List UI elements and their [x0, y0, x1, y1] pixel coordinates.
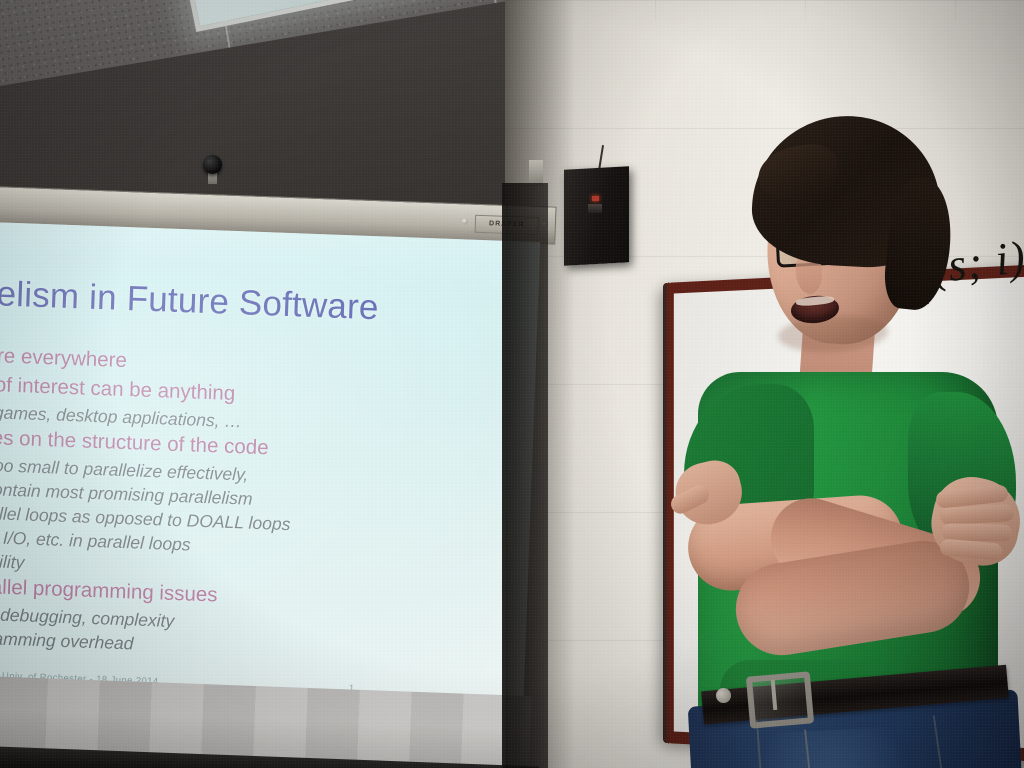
ceiling-camera-icon [203, 155, 222, 174]
slide-content: Parallelism in Future Software Multi-cor… [0, 219, 540, 742]
slide-title: Parallelism in Future Software [0, 271, 379, 328]
lecture-room-photo: s(s; i) rs( /1 DRAPER Parallelism in Fut… [0, 0, 1024, 768]
projection-screen: DRAPER Parallelism in Future Software Mu… [0, 183, 550, 768]
projected-slide: Parallelism in Future Software Multi-cor… [0, 219, 540, 742]
wall-vignette [505, 0, 1024, 768]
slide-bullet-list: Multi-cores are everywhere Applications … [0, 340, 520, 671]
case-screw [462, 218, 468, 224]
